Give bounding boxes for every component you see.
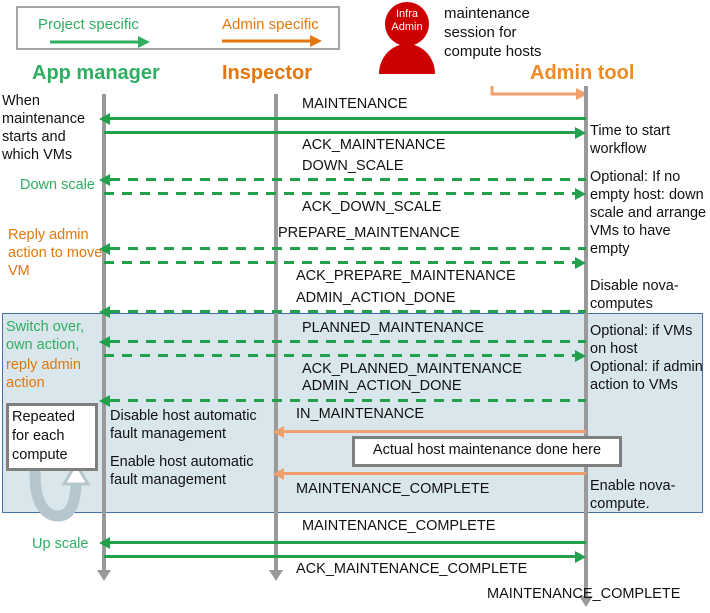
note-reply-admin-action: reply admin action — [6, 356, 102, 392]
message-label-ack-maintenance: ACK_MAINTENANCE — [302, 137, 445, 154]
message-arrow-maintenance-complete-orange — [284, 472, 586, 475]
message-label-admin-action-done-1: ADMIN_ACTION_DONE — [296, 290, 456, 307]
message-arrow-in-maintenance — [284, 430, 586, 433]
message-label-ack-prepare-maintenance: ACK_PREPARE_MAINTENANCE — [296, 268, 516, 285]
note-time-to-start-workflow: Time to start workflow — [590, 122, 710, 158]
lifeline-inspector — [274, 94, 278, 572]
infra-admin-line2: Admin — [376, 21, 438, 34]
message-label-prepare-maintenance: PREPARE_MAINTENANCE — [278, 225, 460, 242]
message-label-maintenance: MAINTENANCE — [302, 96, 408, 113]
message-label-planned-maintenance: PLANNED_MAINTENANCE — [302, 320, 484, 337]
repeated-for-each-compute-label: Repeated for each compute — [12, 408, 94, 465]
repeat-loop-arrow-icon — [22, 462, 98, 524]
actual-host-maintenance-label: Actual host maintenance done here — [352, 442, 622, 458]
legend-project-specific-arrow-icon — [50, 36, 150, 48]
note-disable-host-fault-management: Disable host automatic fault management — [110, 407, 278, 443]
message-arrow-prepare-maintenance — [110, 247, 586, 250]
message-arrow-down-scale-response — [104, 192, 575, 195]
infra-admin-line1: Infra — [376, 8, 438, 21]
note-optional-vms-on-host: Optional: if VMs on host — [590, 322, 710, 358]
message-label-ack-planned-maintenance: ACK_PLANNED_MAINTENANCE — [302, 361, 522, 378]
infra-admin-session-note: maintenance session for compute hosts — [444, 4, 564, 61]
infra-admin-to-admin-tool-connector-icon — [490, 84, 590, 100]
message-label-maintenance-complete-2: MAINTENANCE_COMPLETE — [302, 518, 495, 535]
infra-admin-avatar-label: Infra Admin — [376, 8, 438, 34]
message-label-in-maintenance: IN_MAINTENANCE — [296, 406, 424, 423]
legend-admin-specific-arrow-icon — [222, 35, 322, 47]
lifeline-app-manager — [102, 94, 106, 572]
note-when-maintenance-starts: When maintenance starts and which VMs — [2, 92, 100, 164]
legend-admin-specific-label: Admin specific — [222, 17, 319, 33]
actor-inspector: Inspector — [222, 62, 312, 84]
actor-admin-tool: Admin tool — [530, 62, 634, 84]
message-label-down-scale: DOWN_SCALE — [302, 158, 404, 175]
actor-app-manager: App manager — [32, 62, 160, 84]
message-arrow-down-scale — [110, 178, 586, 181]
message-arrow-maintenance-complete-2 — [110, 541, 586, 544]
note-enable-host-fault-management: Enable host automatic fault management — [110, 453, 278, 489]
message-arrow-prepare-maintenance-response — [104, 261, 575, 264]
message-arrow-maintenance — [110, 117, 586, 120]
message-label-maintenance-complete-1: MAINTENANCE_COMPLETE — [296, 481, 489, 498]
note-down-scale: Down scale — [20, 176, 110, 194]
legend-project-specific-label: Project specific — [38, 17, 139, 33]
message-arrow-planned-maintenance — [110, 340, 586, 343]
message-label-ack-maintenance-complete: ACK_MAINTENANCE_COMPLETE — [296, 561, 527, 578]
message-arrow-planned-maintenance-response — [104, 354, 575, 357]
message-label-maintenance-complete-final: MAINTENANCE_COMPLETE — [487, 586, 680, 603]
message-arrow-ack-maintenance-complete — [104, 555, 575, 558]
note-optional-admin-action-to-vms: Optional: if admin action to VMs — [590, 358, 710, 394]
note-disable-nova-computes: Disable nova-computes — [590, 277, 710, 313]
message-arrow-admin-action-done-2 — [110, 399, 586, 402]
message-label-ack-down-scale: ACK_DOWN_SCALE — [302, 199, 441, 216]
lifeline-end-app-manager-icon — [97, 570, 111, 581]
note-switch-over-own-action: Switch over, own action, — [6, 318, 102, 354]
message-arrow-admin-action-done-1 — [110, 310, 586, 313]
message-arrow-maintenance-response — [104, 131, 575, 134]
note-reply-admin-action-move-vm: Reply admin action to move VM — [8, 226, 103, 280]
note-enable-nova-compute: Enable nova-compute. — [590, 477, 710, 513]
lifeline-end-inspector-icon — [269, 570, 283, 581]
note-optional-no-empty-host: Optional: If no empty host: down scale a… — [590, 168, 710, 258]
note-up-scale: Up scale — [32, 535, 102, 553]
message-label-admin-action-done-2: ADMIN_ACTION_DONE — [302, 378, 462, 395]
